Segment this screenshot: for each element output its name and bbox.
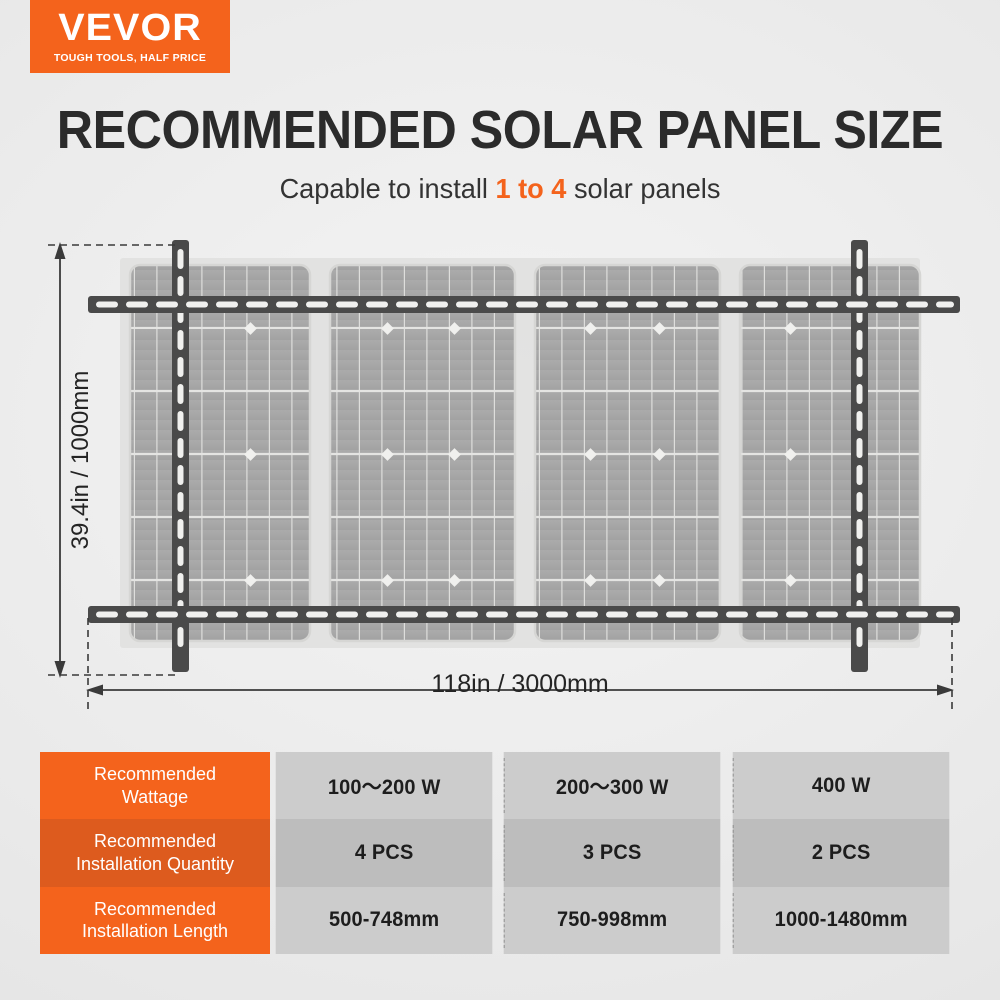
dimension-width-arrow [86, 685, 954, 696]
cell-length-1: 500-748mm [276, 887, 493, 954]
solar-panel-1 [130, 265, 310, 641]
spec-table: RecommendedWattage 100～200 W 200～300 W 4… [40, 752, 955, 954]
subtitle-text-before: Capable to install [280, 173, 496, 204]
mounting-rail-horizontal-bottom [88, 606, 960, 623]
width-dimension-label: 118in / 3000mm [431, 670, 608, 698]
cell-quantity-2: 3 PCS [504, 819, 721, 886]
page-title: RECOMMENDED SOLAR PANEL SIZE [35, 103, 965, 157]
solar-panel-2 [330, 265, 515, 641]
cell-length-2: 750-998mm [504, 887, 721, 954]
mounting-rail-vertical-right [851, 240, 868, 672]
cell-wattage-1: 100～200 W [276, 752, 493, 819]
cell-quantity-3: 2 PCS [732, 819, 949, 886]
cell-wattage-2: 200～300 W [504, 752, 721, 819]
panel-backing-frame [120, 258, 920, 648]
row-label-length: RecommendedInstallation Length [40, 887, 270, 954]
dimension-height-arrow [55, 242, 66, 678]
subtitle-highlight: 1 to 4 [495, 173, 566, 204]
mounting-rail-vertical-left [172, 240, 189, 672]
vevor-logo: VEVOR TOUGH TOOLS, HALF PRICE [30, 0, 230, 73]
row-label-quantity: RecommendedInstallation Quantity [40, 819, 270, 886]
height-dimension-label: 39.4in / 1000mm [67, 371, 94, 550]
row-label-wattage: RecommendedWattage [40, 752, 270, 819]
dimension-guides [48, 245, 952, 712]
brand-name: VEVOR [58, 9, 202, 47]
cell-wattage-3: 400 W [732, 752, 949, 819]
brand-tagline: TOUGH TOOLS, HALF PRICE [54, 53, 206, 64]
cell-length-3: 1000-1480mm [732, 887, 949, 954]
solar-panel-3 [535, 265, 720, 641]
table-row: RecommendedInstallation Quantity 4 PCS 3… [40, 819, 955, 886]
cell-quantity-1: 4 PCS [276, 819, 493, 886]
infographic-page: VEVOR TOUGH TOOLS, HALF PRICE RECOMMENDE… [0, 0, 1000, 1000]
table-row: RecommendedInstallation Length 500-748mm… [40, 887, 955, 954]
subtitle-text-after: solar panels [566, 173, 720, 204]
page-subtitle: Capable to install 1 to 4 solar panels [15, 172, 985, 206]
solar-panel-4 [740, 265, 920, 641]
table-row: RecommendedWattage 100～200 W 200～300 W 4… [40, 752, 955, 819]
mounting-rail-horizontal-top [88, 296, 960, 313]
